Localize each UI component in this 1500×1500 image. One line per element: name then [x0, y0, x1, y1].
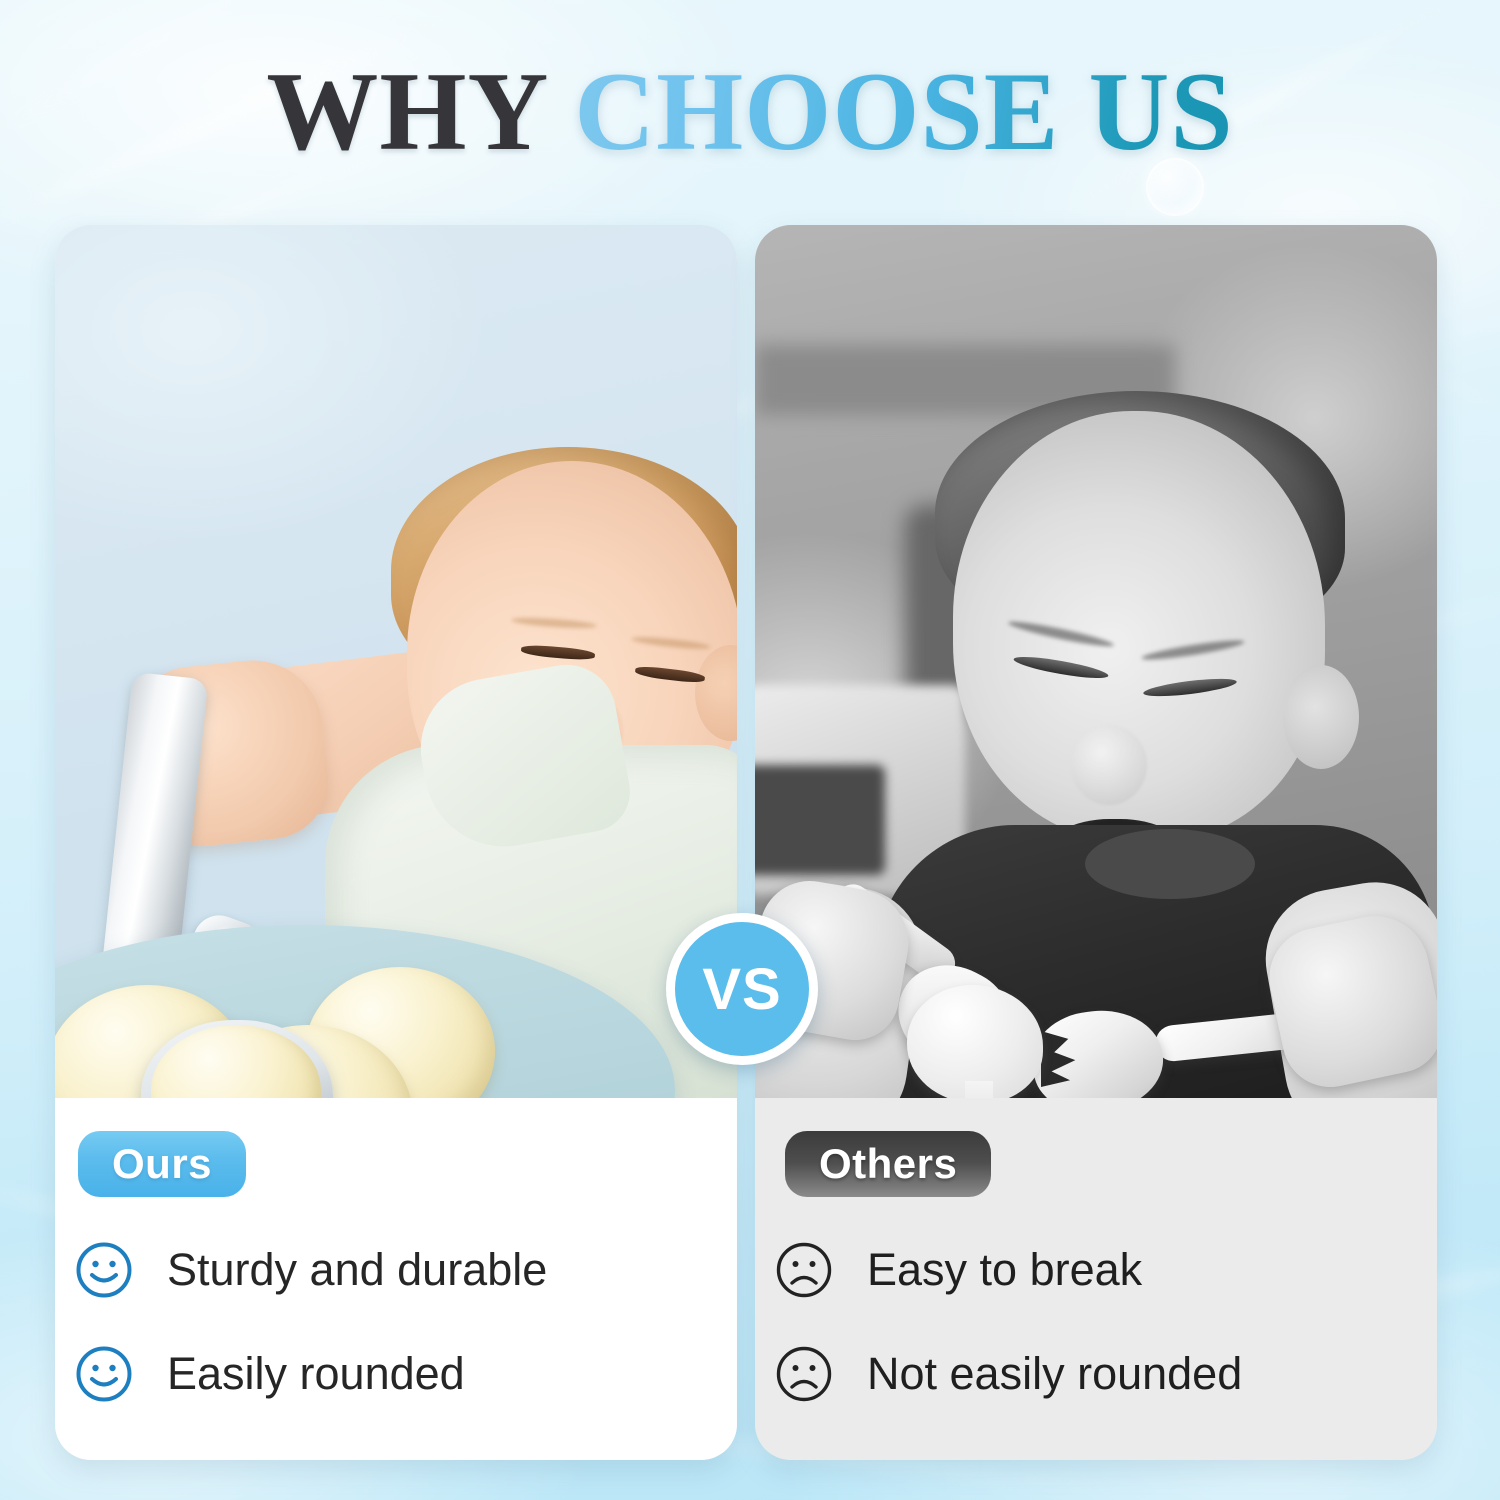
- page-title-part-why: WHY: [266, 50, 574, 174]
- badge-ours: Ours: [78, 1131, 246, 1197]
- feature-label: Not easily rounded: [867, 1348, 1242, 1400]
- feature-row: Easy to break: [775, 1239, 1142, 1301]
- panel-body-others: Others Easy to break: [755, 1098, 1437, 1460]
- page-title: WHY CHOOSE US: [0, 56, 1500, 168]
- badge-ours-label: Ours: [112, 1140, 212, 1188]
- feature-row: Easily rounded: [75, 1343, 465, 1405]
- crying-child-ear: [1283, 665, 1359, 769]
- vs-badge: VS: [666, 913, 818, 1065]
- feature-row: Sturdy and durable: [75, 1239, 547, 1301]
- feature-label: Easily rounded: [167, 1348, 465, 1400]
- comparison-card-others: Others Easy to break: [755, 225, 1437, 1460]
- page-title-part-choose-us: CHOOSE US: [574, 50, 1233, 174]
- feature-row: Not easily rounded: [775, 1343, 1242, 1405]
- crying-child-nose: [1071, 725, 1147, 805]
- photo-ours: [55, 225, 737, 1098]
- sad-face-icon: [775, 1345, 833, 1403]
- smiley-face-icon: [75, 1241, 133, 1299]
- photo-others: [755, 225, 1437, 1098]
- badge-others-label: Others: [819, 1140, 957, 1188]
- sad-face-icon: [775, 1241, 833, 1299]
- comparison-card-ours: Ours Sturdy and durable: [55, 225, 737, 1460]
- crying-child-collar: [1085, 829, 1255, 899]
- blurred-microwave-window: [755, 765, 885, 875]
- panel-body-ours: Ours Sturdy and durable: [55, 1098, 737, 1460]
- vs-badge-label: VS: [702, 956, 781, 1023]
- feature-label: Sturdy and durable: [167, 1244, 547, 1296]
- bubble-icon: [1146, 158, 1204, 216]
- ice-cream-drip: [965, 1081, 993, 1098]
- feature-label: Easy to break: [867, 1244, 1142, 1296]
- badge-others: Others: [785, 1131, 991, 1197]
- smiley-face-icon: [75, 1345, 133, 1403]
